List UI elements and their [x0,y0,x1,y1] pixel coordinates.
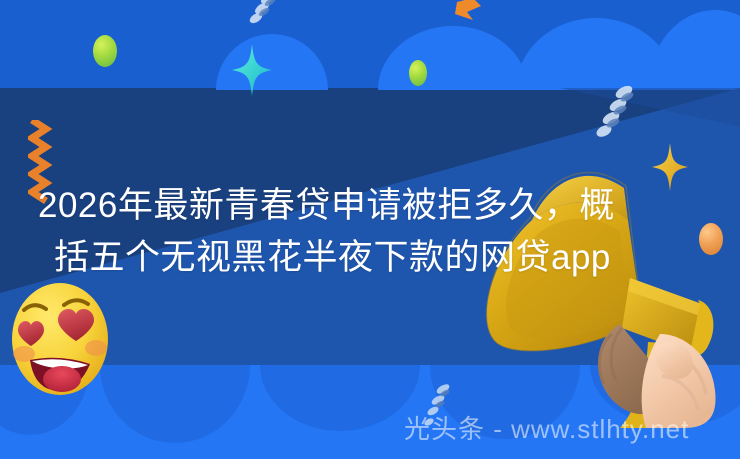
emoji-heart-eyes-icon [8,280,112,398]
page-title: 2026年最新青春贷申请被拒多久，概 括五个无视黑花半夜下款的网贷app [38,180,708,284]
headline-line-2: 括五个无视黑花半夜下款的网贷app [38,232,708,284]
ball-green-icon [409,60,427,86]
ball-green-icon [93,35,117,67]
promo-banner: 2026年最新青春贷申请被拒多久，概 括五个无视黑花半夜下款的网贷app 光头条… [0,0,740,459]
confetti-orange-icon [455,0,481,20]
watermark-text: 光头条 - www.stlhty.net [404,409,689,446]
spiral-streamer-icon [246,0,280,28]
headline-line-1: 2026年最新青春贷申请被拒多久，概 [38,180,708,232]
sparkle-cyan-icon [232,44,272,96]
